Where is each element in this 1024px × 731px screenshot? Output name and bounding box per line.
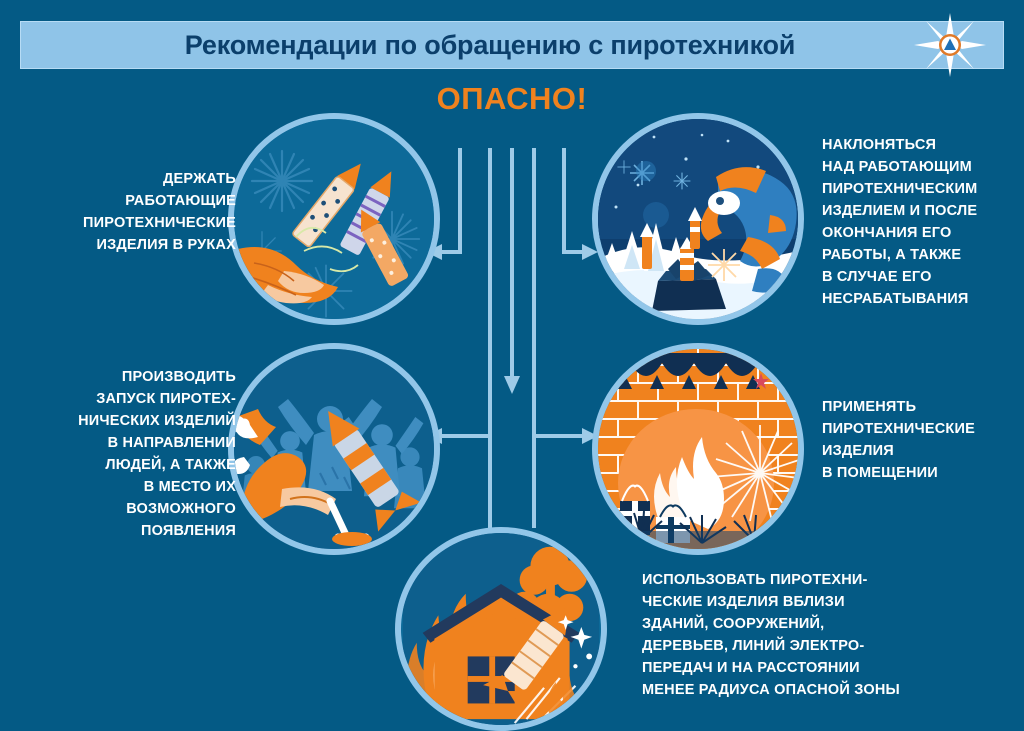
page-title: Рекомендации по обращению с пиротехникой xyxy=(185,30,795,61)
title-bar: Рекомендации по обращению с пиротехникой xyxy=(20,21,1004,69)
caption-hold-in-hands: ДЕРЖАТЬ РАБОТАЮЩИЕ ПИРОТЕХНИЧЕСКИЕ ИЗДЕЛ… xyxy=(24,168,236,256)
illustration-rocket-aimed-at-crowd xyxy=(228,343,440,555)
illustration-indoor-room-on-fire xyxy=(592,343,804,555)
illustration-hand-holding-lit-fireworks xyxy=(228,113,440,325)
caption-bend-over-device: НАКЛОНЯТЬСЯ НАД РАБОТАЮЩИМ ПИРОТЕХНИЧЕСК… xyxy=(822,134,1022,310)
caption-launch-toward-people: ПРОИЗВОДИТЬ ЗАПУСК ПИРОТЕХ- НИЧЕСКИХ ИЗД… xyxy=(20,366,236,542)
emercom-star-emblem-icon xyxy=(914,13,986,77)
caption-use-indoors: ПРИМЕНЯТЬ ПИРОТЕХНИЧЕСКИЕ ИЗДЕЛИЯ В ПОМЕ… xyxy=(822,396,1022,484)
caption-use-near-buildings: ИСПОЛЬЗОВАТЬ ПИРОТЕХНИ- ЧЕСКИЕ ИЗДЕЛИЯ В… xyxy=(642,569,1022,701)
illustration-person-bending-over-firework-box xyxy=(592,113,804,325)
arrow-connector-group xyxy=(424,118,600,528)
danger-heading: ОПАСНО! xyxy=(0,81,1024,117)
illustration-burning-house-hit-by-rocket xyxy=(395,527,607,731)
danger-label: ОПАСНО! xyxy=(437,81,588,116)
infographic-poster: Рекомендации по обращению с пиротехникой… xyxy=(0,0,1024,731)
